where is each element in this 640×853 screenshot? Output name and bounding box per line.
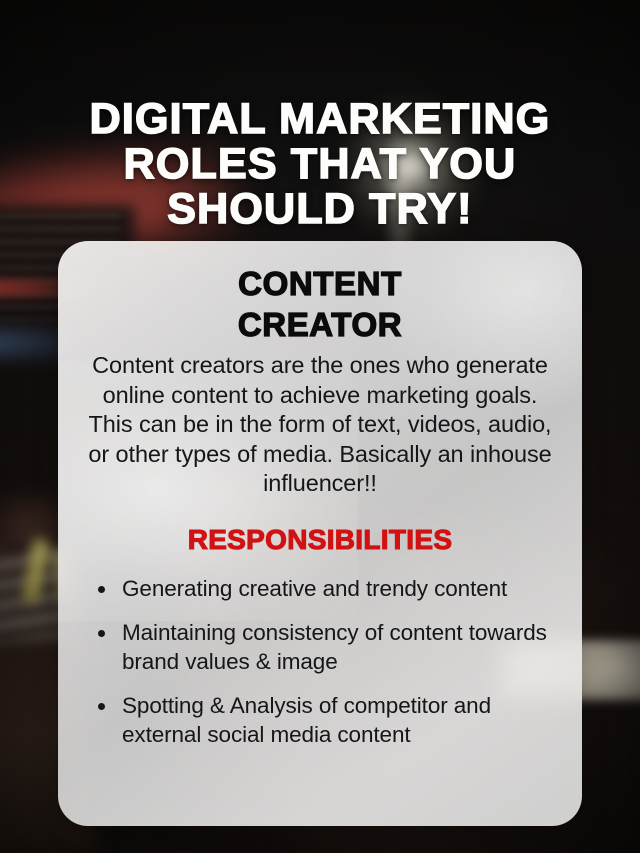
responsibilities-list: Generating creative and trendy content M… — [84, 575, 556, 750]
page-title: Digital Marketing Roles That You Should … — [0, 97, 640, 232]
list-item-label: Maintaining consistency of content towar… — [122, 620, 547, 674]
bullet-icon — [98, 586, 105, 593]
role-description: Content creators are the ones who genera… — [84, 351, 556, 499]
list-item: Spotting & Analysis of competitor and ex… — [84, 692, 556, 749]
role-title: Content Creator — [84, 263, 556, 345]
poster: Digital Marketing Roles That You Should … — [0, 0, 640, 853]
card-content: Content Creator Content creators are the… — [84, 263, 556, 749]
bullet-icon — [98, 703, 105, 710]
list-item-label: Spotting & Analysis of competitor and ex… — [122, 693, 491, 747]
list-item: Generating creative and trendy content — [84, 575, 556, 604]
list-item-label: Generating creative and trendy content — [122, 576, 507, 601]
responsibilities-heading: Responsibilities — [84, 523, 556, 557]
bullet-icon — [98, 630, 105, 637]
content-card: Content Creator Content creators are the… — [58, 241, 582, 826]
list-item: Maintaining consistency of content towar… — [84, 619, 556, 676]
